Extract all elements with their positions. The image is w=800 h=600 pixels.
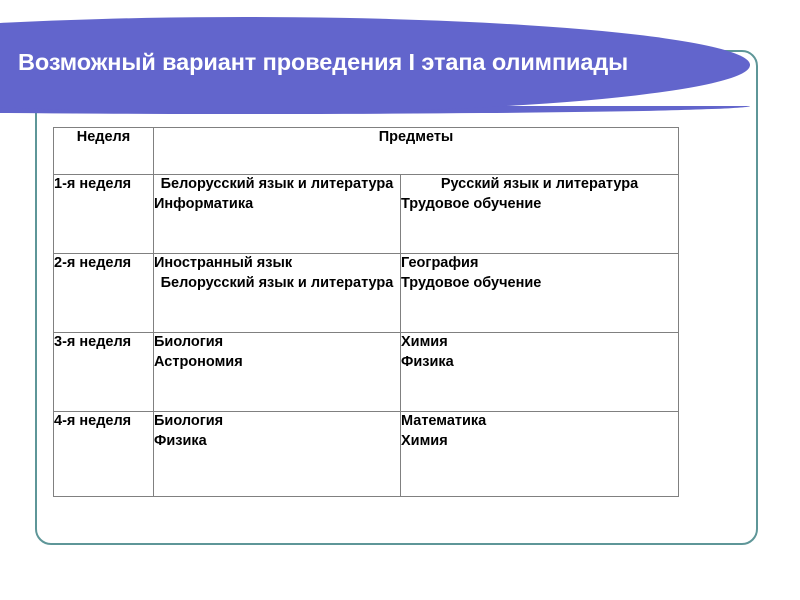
subject-line: Биология	[154, 333, 400, 353]
table-row: 2-я неделя Иностранный язык Белорусский …	[54, 254, 679, 333]
table-row: 3-я неделя Биология Астрономия Химия Физ…	[54, 333, 679, 412]
table-row: 4-я неделя Биология Физика Математика Хи…	[54, 412, 679, 497]
subject-line: Физика	[154, 432, 400, 452]
subject-line: Трудовое обучение	[401, 274, 678, 294]
cell-subjects-group-2: География Трудовое обучение	[401, 254, 679, 333]
subject-line: Математика	[401, 412, 678, 432]
slide-canvas: Возможный вариант проведения I этапа оли…	[0, 0, 800, 600]
cell-subjects-group-1: Белорусский язык и литература Информатик…	[154, 175, 401, 254]
cell-week: 3-я неделя	[54, 333, 154, 412]
table-header-row: Неделя Предметы	[54, 128, 679, 175]
cell-subjects-group-2: Математика Химия	[401, 412, 679, 497]
column-header-subjects: Предметы	[154, 128, 679, 175]
subject-line: Химия	[401, 333, 678, 353]
cell-subjects-group-1: Иностранный язык Белорусский язык и лите…	[154, 254, 401, 333]
page-title: Возможный вариант проведения I этапа оли…	[18, 48, 738, 76]
cell-subjects-group-2: Химия Физика	[401, 333, 679, 412]
subject-line: Физика	[401, 353, 678, 373]
cell-subjects-group-1: Биология Физика	[154, 412, 401, 497]
subject-line: География	[401, 254, 678, 274]
cell-subjects-group-1: Биология Астрономия	[154, 333, 401, 412]
subject-line: Русский язык и литература	[401, 175, 678, 195]
schedule-table-container: Неделя Предметы 1-я неделя Белорусский я…	[53, 127, 678, 497]
subject-line: Иностранный язык	[154, 254, 400, 274]
subject-line: Информатика	[154, 195, 400, 215]
schedule-table: Неделя Предметы 1-я неделя Белорусский я…	[53, 127, 679, 497]
column-header-week: Неделя	[54, 128, 154, 175]
subject-line: Биология	[154, 412, 400, 432]
subject-line: Астрономия	[154, 353, 400, 373]
table-row: 1-я неделя Белорусский язык и литература…	[54, 175, 679, 254]
subject-line: Трудовое обучение	[401, 195, 678, 215]
cell-week: 4-я неделя	[54, 412, 154, 497]
cell-week: 1-я неделя	[54, 175, 154, 254]
cell-subjects-group-2: Русский язык и литература Трудовое обуче…	[401, 175, 679, 254]
cell-week: 2-я неделя	[54, 254, 154, 333]
subject-line: Белорусский язык и литература	[154, 175, 400, 195]
subject-line: Белорусский язык и литература	[154, 274, 400, 294]
subject-line: Химия	[401, 432, 678, 452]
